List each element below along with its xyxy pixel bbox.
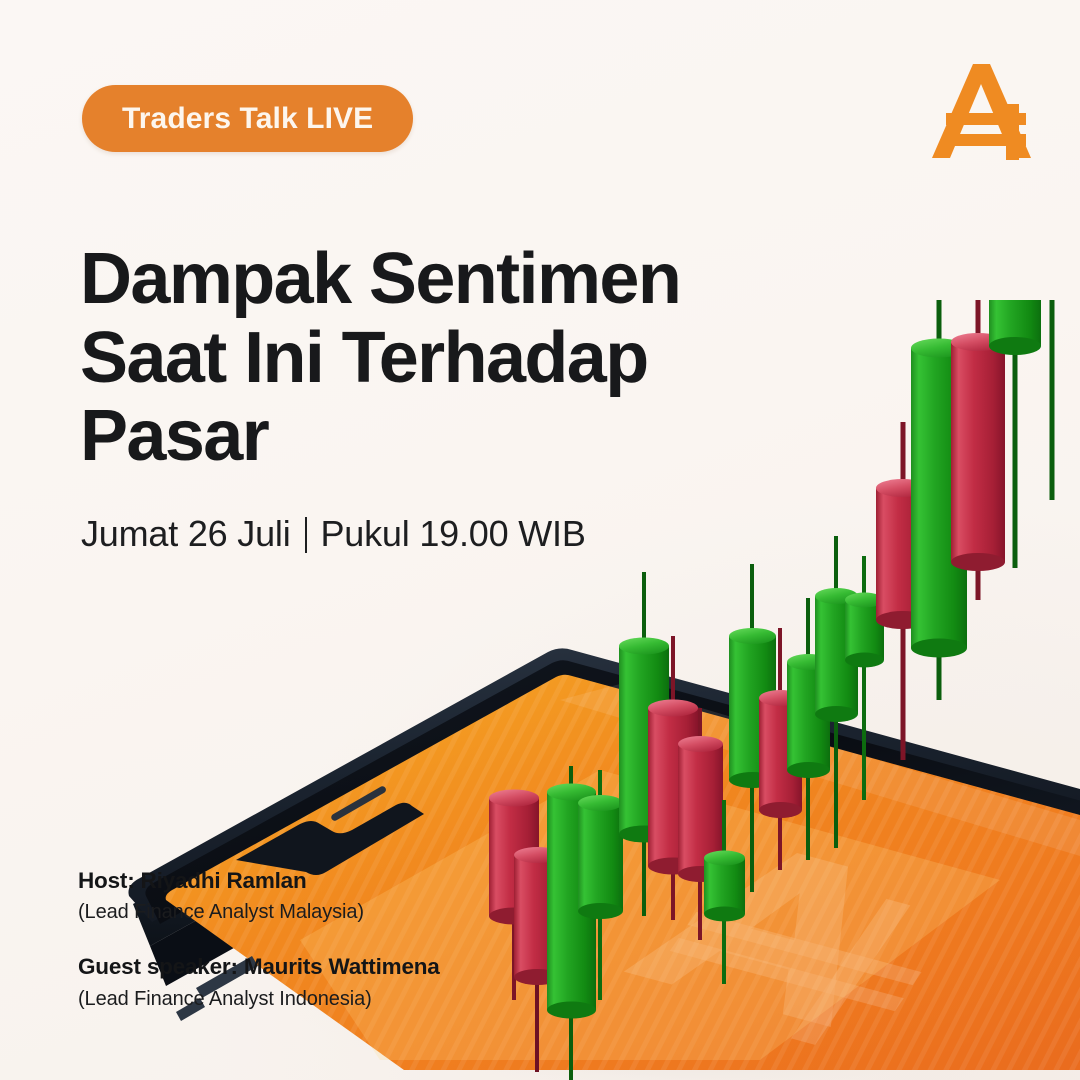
brand-logo <box>928 58 1044 166</box>
page-title: Dampak Sentimen Saat Ini Terhadap Pasar <box>80 240 780 475</box>
poster-canvas: Traders Talk LIVE Dampak Sentimen Saat I… <box>0 0 1080 1080</box>
schedule-date: Jumat 26 Juli <box>81 512 291 555</box>
credit-host-role: (Lead Finance Analyst Malaysia) <box>78 898 548 926</box>
live-badge[interactable]: Traders Talk LIVE <box>82 85 413 152</box>
credit-guest: Guest speaker: Maurits Wattimena (Lead F… <box>78 952 548 1012</box>
credit-host: Host: Riyadhi Ramlan (Lead Finance Analy… <box>78 866 548 926</box>
live-badge-label: Traders Talk LIVE <box>122 104 373 134</box>
headline-line-2: Saat Ini Terhadap <box>80 319 780 397</box>
headline-line-3: Pasar <box>80 397 780 475</box>
headline-line-1: Dampak Sentimen <box>80 240 780 318</box>
abc-a-currency-logo-icon <box>928 58 1044 166</box>
schedule-line: Jumat 26 Juli Pukul 19.00 WIB <box>81 512 586 555</box>
schedule-time: Pukul 19.00 WIB <box>321 512 586 555</box>
credit-host-name: Host: Riyadhi Ramlan <box>78 866 548 896</box>
credit-guest-name: Guest speaker: Maurits Wattimena <box>78 952 548 982</box>
credits-block: Host: Riyadhi Ramlan (Lead Finance Analy… <box>78 866 548 1013</box>
credit-guest-role: (Lead Finance Analyst Indonesia) <box>78 985 548 1013</box>
schedule-separator <box>305 517 307 553</box>
